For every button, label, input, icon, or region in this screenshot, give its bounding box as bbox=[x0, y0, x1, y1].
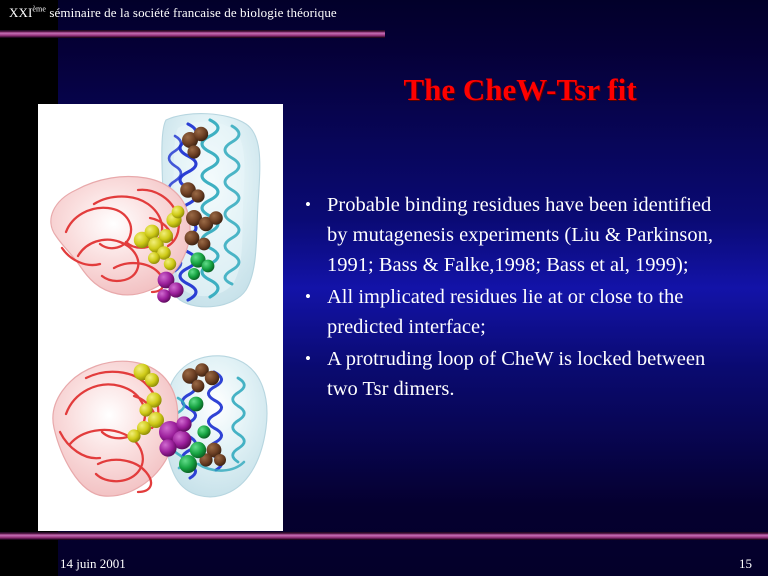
bullet-marker-icon: • bbox=[305, 282, 327, 312]
header-rest: séminaire de la société francaise de bio… bbox=[46, 5, 337, 20]
bullet-marker-icon: • bbox=[305, 344, 327, 374]
bullet-list: • Probable binding residues have been id… bbox=[305, 190, 735, 406]
bullet-text: All implicated residues lie at or close … bbox=[327, 282, 735, 342]
header-superscript: ème bbox=[32, 5, 46, 14]
page-title: The CheW-Tsr fit bbox=[300, 72, 740, 108]
footer-date: 14 juin 2001 bbox=[60, 556, 126, 572]
list-item: • Probable binding residues have been id… bbox=[305, 190, 735, 280]
bullet-text: Probable binding residues have been iden… bbox=[327, 190, 735, 280]
presentation-slide: XXIème séminaire de la société francaise… bbox=[0, 0, 768, 576]
slide-header: XXIème séminaire de la société francaise… bbox=[9, 5, 337, 21]
figure-panel bbox=[38, 104, 283, 531]
chew-tsr-top-view-figure bbox=[38, 332, 283, 528]
footer-divider-rule bbox=[0, 532, 768, 540]
bullet-marker-icon: • bbox=[305, 190, 327, 220]
bullet-text: A protruding loop of CheW is locked betw… bbox=[327, 344, 735, 404]
header-divider-rule bbox=[0, 30, 385, 38]
chew-tsr-side-view-figure bbox=[38, 108, 283, 320]
list-item: • All implicated residues lie at or clos… bbox=[305, 282, 735, 342]
footer-page-number: 15 bbox=[739, 556, 752, 572]
header-prefix: XXI bbox=[9, 5, 32, 20]
list-item: • A protruding loop of CheW is locked be… bbox=[305, 344, 735, 404]
